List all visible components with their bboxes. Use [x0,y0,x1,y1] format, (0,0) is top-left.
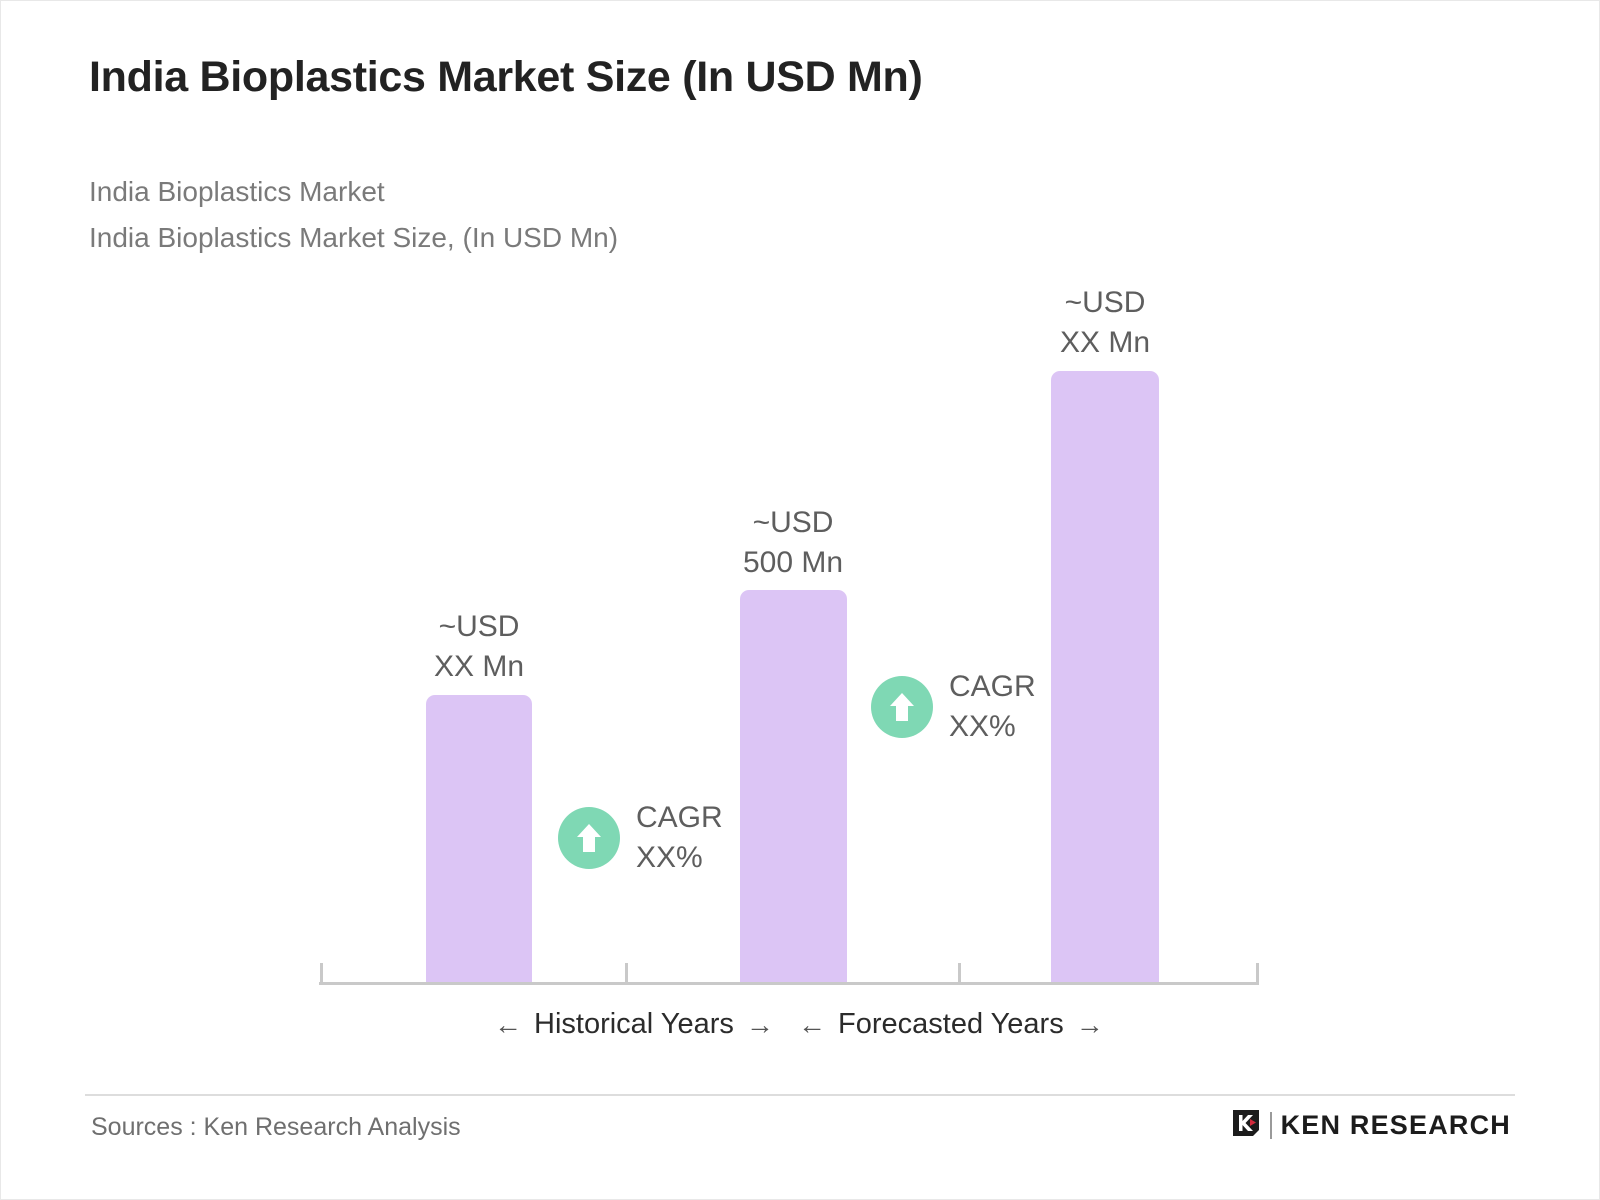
cagr-annotation-1: CAGR XX% [558,798,723,878]
x-axis-tick-3 [958,963,961,983]
bar-value-label-3-line1: ~USD [1015,283,1195,323]
footer-divider [85,1094,1515,1096]
cagr-annotation-2-line1: CAGR [949,667,1036,707]
arrow-right-icon: → [1076,1011,1104,1039]
cagr-annotation-2: CAGR XX% [871,667,1036,747]
arrow-left-icon: ← [798,1011,826,1039]
bar-value-label-3-line2: XX Mn [1015,323,1195,363]
cagr-up-arrow-icon [871,676,933,738]
period-label-historical-text: Historical Years [534,1008,734,1041]
bar-1[interactable] [426,695,532,983]
cagr-annotation-1-text: CAGR XX% [636,798,723,878]
chart-page: India Bioplastics Market Size (In USD Mn… [0,0,1600,1200]
bar-value-label-2: ~USD 500 Mn [703,503,883,583]
x-axis-tick-1 [320,963,323,983]
arrow-left-icon: ← [494,1011,522,1039]
x-axis-tick-2 [625,963,628,983]
logo-wordmark: KEN RESEARCH [1281,1110,1511,1141]
bar-value-label-2-line1: ~USD [703,503,883,543]
cagr-annotation-2-text: CAGR XX% [949,667,1036,747]
period-label-historical: ← Historical Years → [494,1008,774,1041]
cagr-annotation-2-line2: XX% [949,707,1036,747]
period-label-forecasted: ← Forecasted Years → [798,1008,1104,1041]
ken-research-logo: KEN RESEARCH [1231,1108,1511,1143]
bar-value-label-3: ~USD XX Mn [1015,283,1195,363]
period-label-forecasted-text: Forecasted Years [838,1008,1064,1041]
source-note: Sources : Ken Research Analysis [91,1113,461,1142]
bar-2[interactable] [740,590,847,983]
bar-value-label-2-line2: 500 Mn [703,543,883,583]
cagr-annotation-1-line1: CAGR [636,798,723,838]
x-axis-tick-4 [1256,963,1259,983]
bar-value-label-1-line2: XX Mn [389,647,569,687]
ken-research-logo-mark [1231,1108,1261,1143]
bar-chart-plot: ~USD XX Mn ~USD 500 Mn ~USD XX Mn CAGR X… [1,1,1600,1071]
bar-3[interactable] [1051,371,1159,983]
bar-value-label-1: ~USD XX Mn [389,607,569,687]
cagr-up-arrow-icon [558,807,620,869]
arrow-right-icon: → [746,1011,774,1039]
logo-divider [1270,1112,1272,1139]
bar-value-label-1-line1: ~USD [389,607,569,647]
cagr-annotation-1-line2: XX% [636,838,723,878]
x-axis-line [319,982,1259,985]
